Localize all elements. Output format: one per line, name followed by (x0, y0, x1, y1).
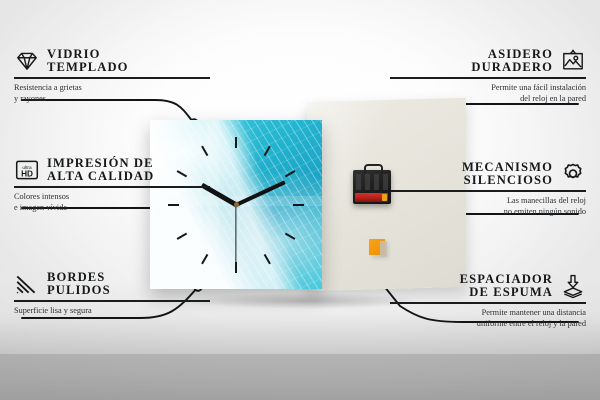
feature-desc-line2: no emiten ningún sonido (390, 207, 586, 218)
infographic-canvas: VIDRIO TEMPLADO Resistencia a grietas y … (0, 0, 600, 400)
diamond-icon (14, 48, 40, 74)
feature-espaciador-de-espuma: ESPACIADOR DE ESPUMA Permite mantener un… (390, 273, 586, 329)
feature-titles: ASIDERO DURADERO (471, 48, 553, 74)
feature-title-line2: DE ESPUMA (469, 286, 553, 299)
feature-desc-line1: Permite mantener una distancia (390, 308, 586, 319)
feature-desc-line2: e imagen vívida (14, 203, 210, 214)
clock-mechanism (353, 170, 391, 204)
svg-text:HD: HD (21, 170, 33, 179)
feature-description: Permite mantener una distancia uniforme … (390, 308, 586, 330)
feature-header: MECANISMO SILENCIOSO (390, 161, 586, 187)
mechanism-detail (356, 174, 388, 190)
feature-desc-line1: Colores intensos (14, 192, 210, 203)
feature-header: ASIDERO DURADERO (390, 48, 586, 74)
feature-titles: MECANISMO SILENCIOSO (462, 161, 553, 187)
feature-title-line2: SILENCIOSO (464, 174, 553, 187)
feature-titles: BORDES PULIDOS (47, 271, 111, 297)
floor-base (0, 354, 600, 400)
feature-desc-line2: y rayones (14, 94, 210, 105)
feature-description: Las manecillas del reloj no emiten ningú… (390, 196, 586, 218)
feature-header: ESPACIADOR DE ESPUMA (390, 273, 586, 299)
feature-desc-line1: Resistencia a grietas (14, 83, 210, 94)
feature-asidero-duradero: ASIDERO DURADERO Permite una fácil insta… (390, 48, 586, 104)
feature-desc-line1: Permite una fácil instalación (390, 83, 586, 94)
feature-divider (14, 300, 210, 302)
feature-titles: IMPRESIÓN DE ALTA CALIDAD (47, 157, 154, 183)
feature-description: Superficie lisa y segura (14, 306, 210, 317)
gear-icon (560, 161, 586, 187)
feature-title-line2: TEMPLADO (47, 61, 129, 74)
ultra-hd-icon: ultra HD (14, 157, 40, 183)
feature-header: ultra HD IMPRESIÓN DE ALTA CALIDAD (14, 157, 210, 183)
feature-header: VIDRIO TEMPLADO (14, 48, 210, 74)
polished-edges-icon (14, 271, 40, 297)
feature-bordes-pulidos: BORDES PULIDOS Superficie lisa y segura (14, 271, 210, 317)
feature-desc-line1: Superficie lisa y segura (14, 306, 210, 317)
feature-header: BORDES PULIDOS (14, 271, 210, 297)
feature-description: Permite una fácil instalación del reloj … (390, 83, 586, 105)
feature-desc-line2: del reloj en la pared (390, 94, 586, 105)
feature-desc-line1: Las manecillas del reloj (390, 196, 586, 207)
clock-tick (235, 137, 237, 148)
feature-divider (390, 302, 586, 304)
feature-divider (390, 190, 586, 192)
feature-title-line2: DURADERO (471, 61, 553, 74)
foam-spacer (369, 239, 385, 255)
picture-hanger-icon (560, 48, 586, 74)
feature-desc-line2: uniforme entre el reloj y la pared (390, 319, 586, 330)
battery (355, 193, 388, 202)
feature-description: Colores intensos e imagen vívida (14, 192, 210, 214)
hanger-hook-icon (364, 164, 383, 174)
feature-titles: VIDRIO TEMPLADO (47, 48, 129, 74)
clock-tick (293, 204, 304, 206)
feature-mecanismo-silencioso: MECANISMO SILENCIOSO Las manecillas del … (390, 161, 586, 217)
clock-center-pin (234, 202, 239, 207)
feature-title-line2: ALTA CALIDAD (47, 170, 154, 183)
feature-titles: ESPACIADOR DE ESPUMA (460, 273, 553, 299)
feature-vidrio-templado: VIDRIO TEMPLADO Resistencia a grietas y … (14, 48, 210, 104)
feature-title-line2: PULIDOS (47, 284, 111, 297)
feature-description: Resistencia a grietas y rayones (14, 83, 210, 105)
feature-impresion-alta-calidad: ultra HD IMPRESIÓN DE ALTA CALIDAD Color… (14, 157, 210, 213)
feature-divider (14, 186, 210, 188)
feature-divider (14, 77, 210, 79)
feature-divider (390, 77, 586, 79)
foam-spacer-icon (560, 273, 586, 299)
